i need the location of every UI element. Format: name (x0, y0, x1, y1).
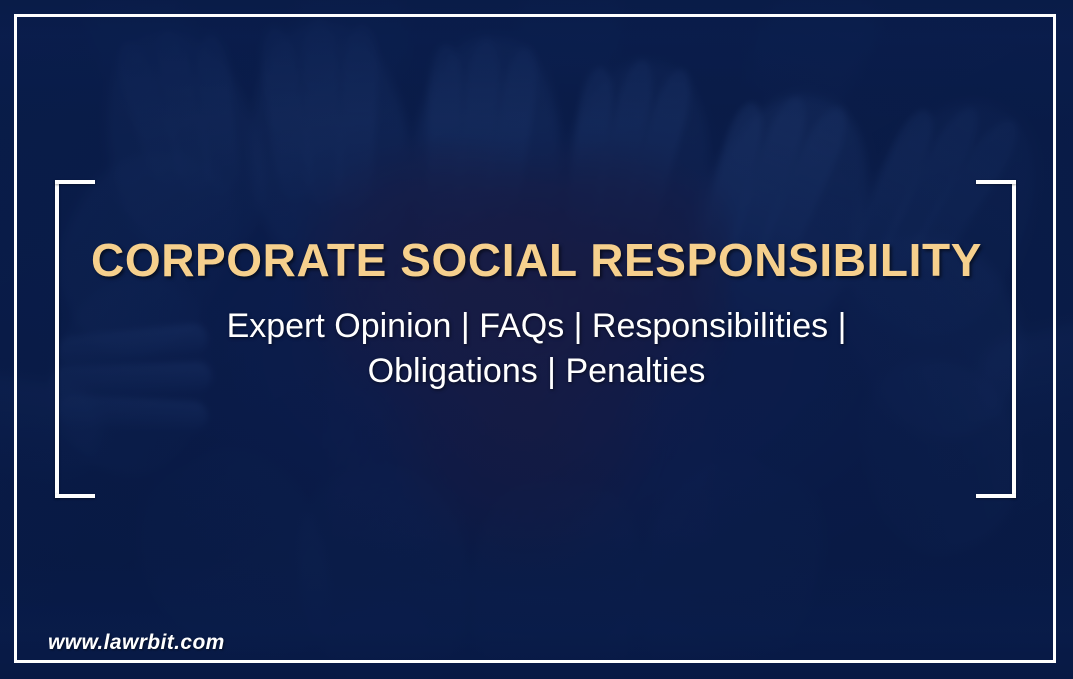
bottom-shade-band (0, 559, 1073, 679)
top-shade-band (0, 0, 1073, 120)
banner-footer: www.lawrbit.com (48, 631, 225, 655)
background-photo-hands-heart (0, 0, 1073, 679)
csr-promo-banner: CORPORATE SOCIAL RESPONSIBILITY Expert O… (0, 0, 1073, 679)
website-url[interactable]: www.lawrbit.com (48, 631, 225, 654)
